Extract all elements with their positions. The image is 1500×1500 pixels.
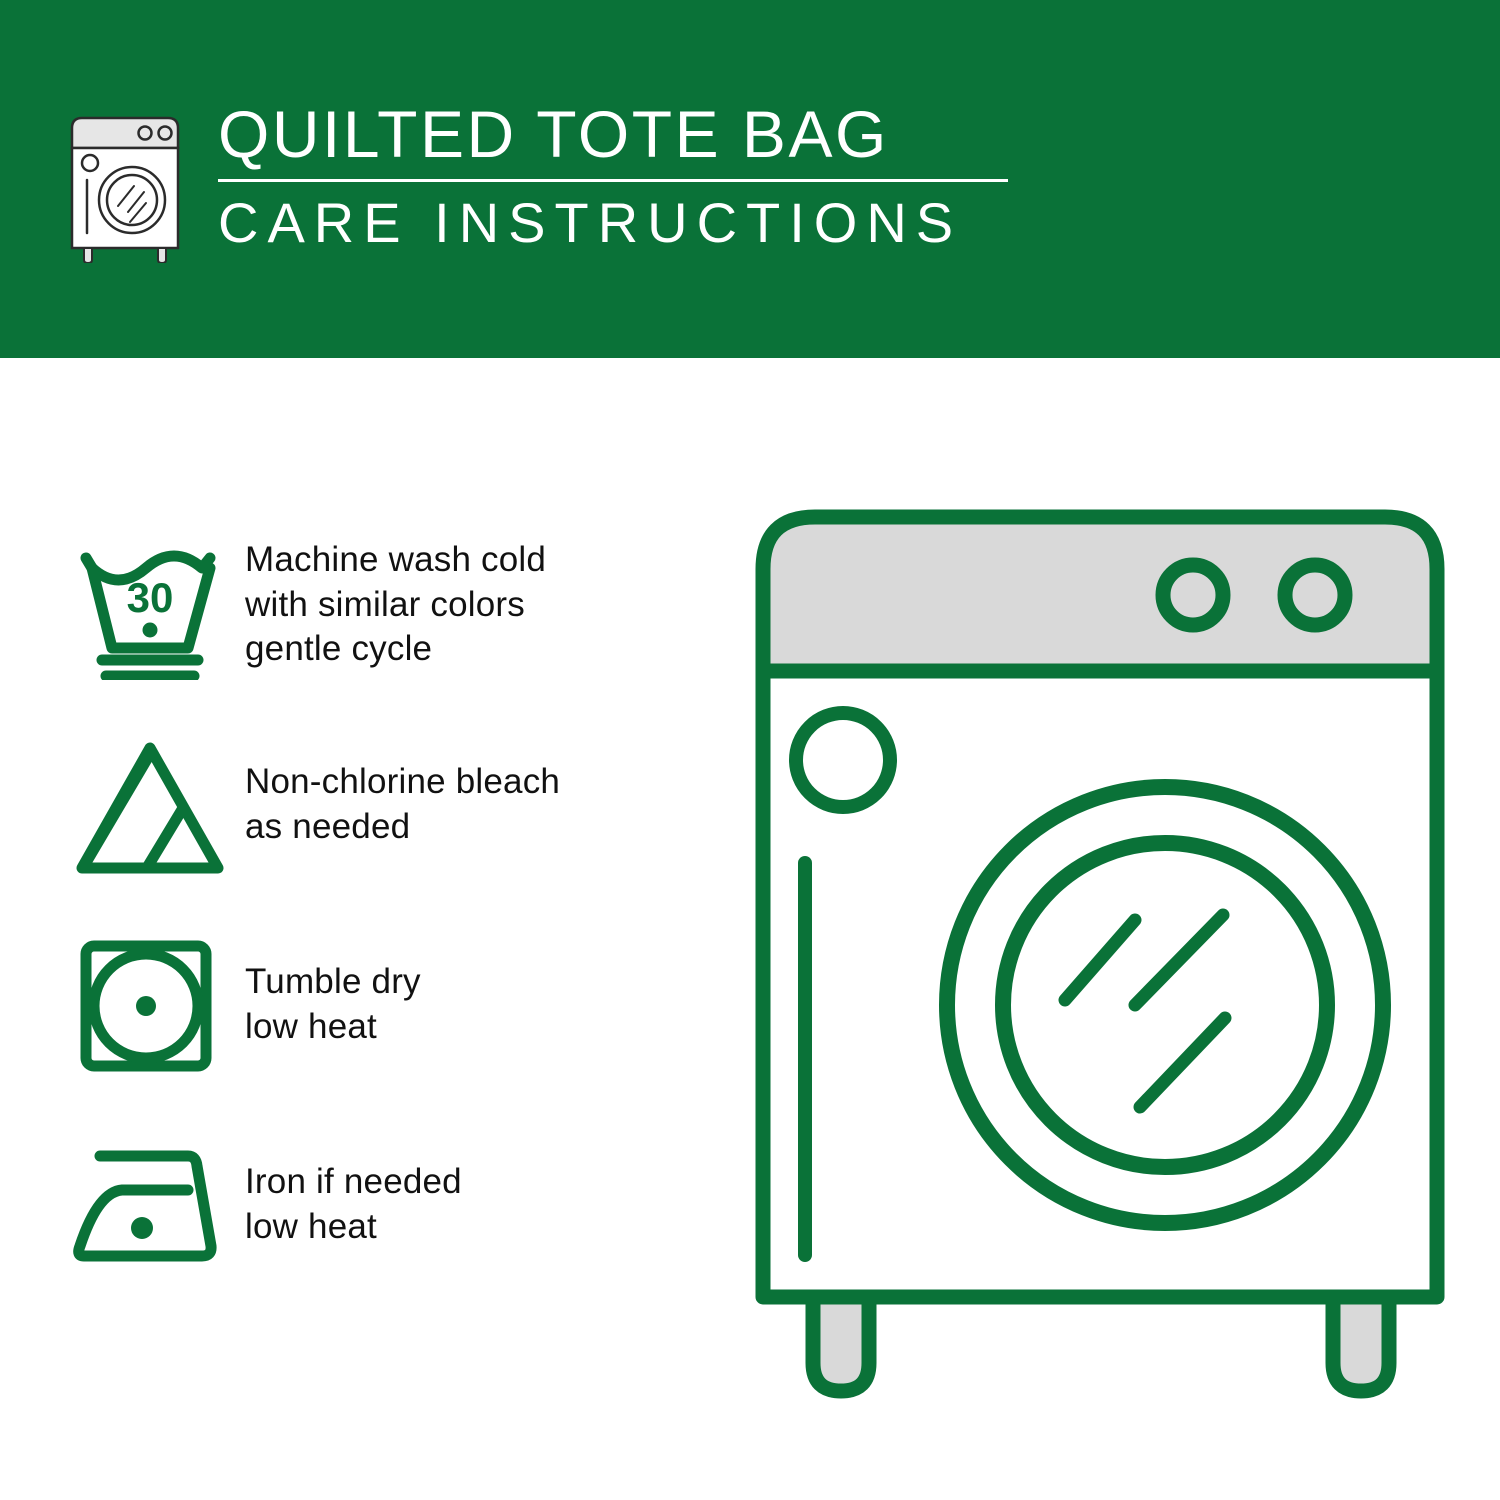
list-item: Tumble dry low heat	[70, 905, 720, 1105]
non-chlorine-bleach-triangle-icon	[70, 730, 245, 880]
list-item-text: Tumble dry low heat	[245, 960, 421, 1050]
title-divider	[218, 179, 1008, 182]
care-text-line: as needed	[245, 805, 560, 850]
care-text-line: Tumble dry	[245, 960, 421, 1005]
page-title: QUILTED TOTE BAG	[218, 100, 1028, 169]
washing-machine-icon	[60, 108, 190, 263]
list-item-text: Machine wash cold with similar colors ge…	[245, 538, 546, 672]
care-text-line: low heat	[245, 1005, 421, 1050]
tumble-dry-low-icon	[70, 930, 245, 1080]
header-text-block: QUILTED TOTE BAG CARE INSTRUCTIONS	[218, 100, 1028, 254]
list-item: 30 Machine wash cold with similar colors…	[70, 505, 720, 705]
leg-left	[813, 1297, 869, 1391]
iron-low-heat-icon	[70, 1130, 245, 1280]
list-item: Non-chlorine bleach as needed	[70, 705, 720, 905]
list-item-text: Non-chlorine bleach as needed	[245, 760, 560, 850]
page-subtitle: CARE INSTRUCTIONS	[218, 192, 1028, 254]
care-text-line: low heat	[245, 1205, 462, 1250]
top-control-panel	[763, 517, 1437, 671]
care-text-line: Non-chlorine bleach	[245, 760, 560, 805]
washing-machine-illustration	[745, 495, 1455, 1435]
machine-body	[763, 671, 1437, 1297]
care-instruction-list: 30 Machine wash cold with similar colors…	[70, 505, 720, 1305]
care-text-line: Machine wash cold	[245, 538, 546, 583]
care-text-line: gentle cycle	[245, 627, 546, 672]
care-instructions-infographic: QUILTED TOTE BAG CARE INSTRUCTIONS 30	[0, 0, 1500, 1500]
wash-temperature-value: 30	[127, 574, 174, 621]
list-item: Iron if needed low heat	[70, 1105, 720, 1305]
wash-tub-30-gentle-icon: 30	[70, 530, 245, 680]
leg-right	[1333, 1297, 1389, 1391]
care-text-line: with similar colors	[245, 583, 546, 628]
list-item-text: Iron if needed low heat	[245, 1160, 462, 1250]
header-banner: QUILTED TOTE BAG CARE INSTRUCTIONS	[0, 0, 1500, 358]
care-text-line: Iron if needed	[245, 1160, 462, 1205]
